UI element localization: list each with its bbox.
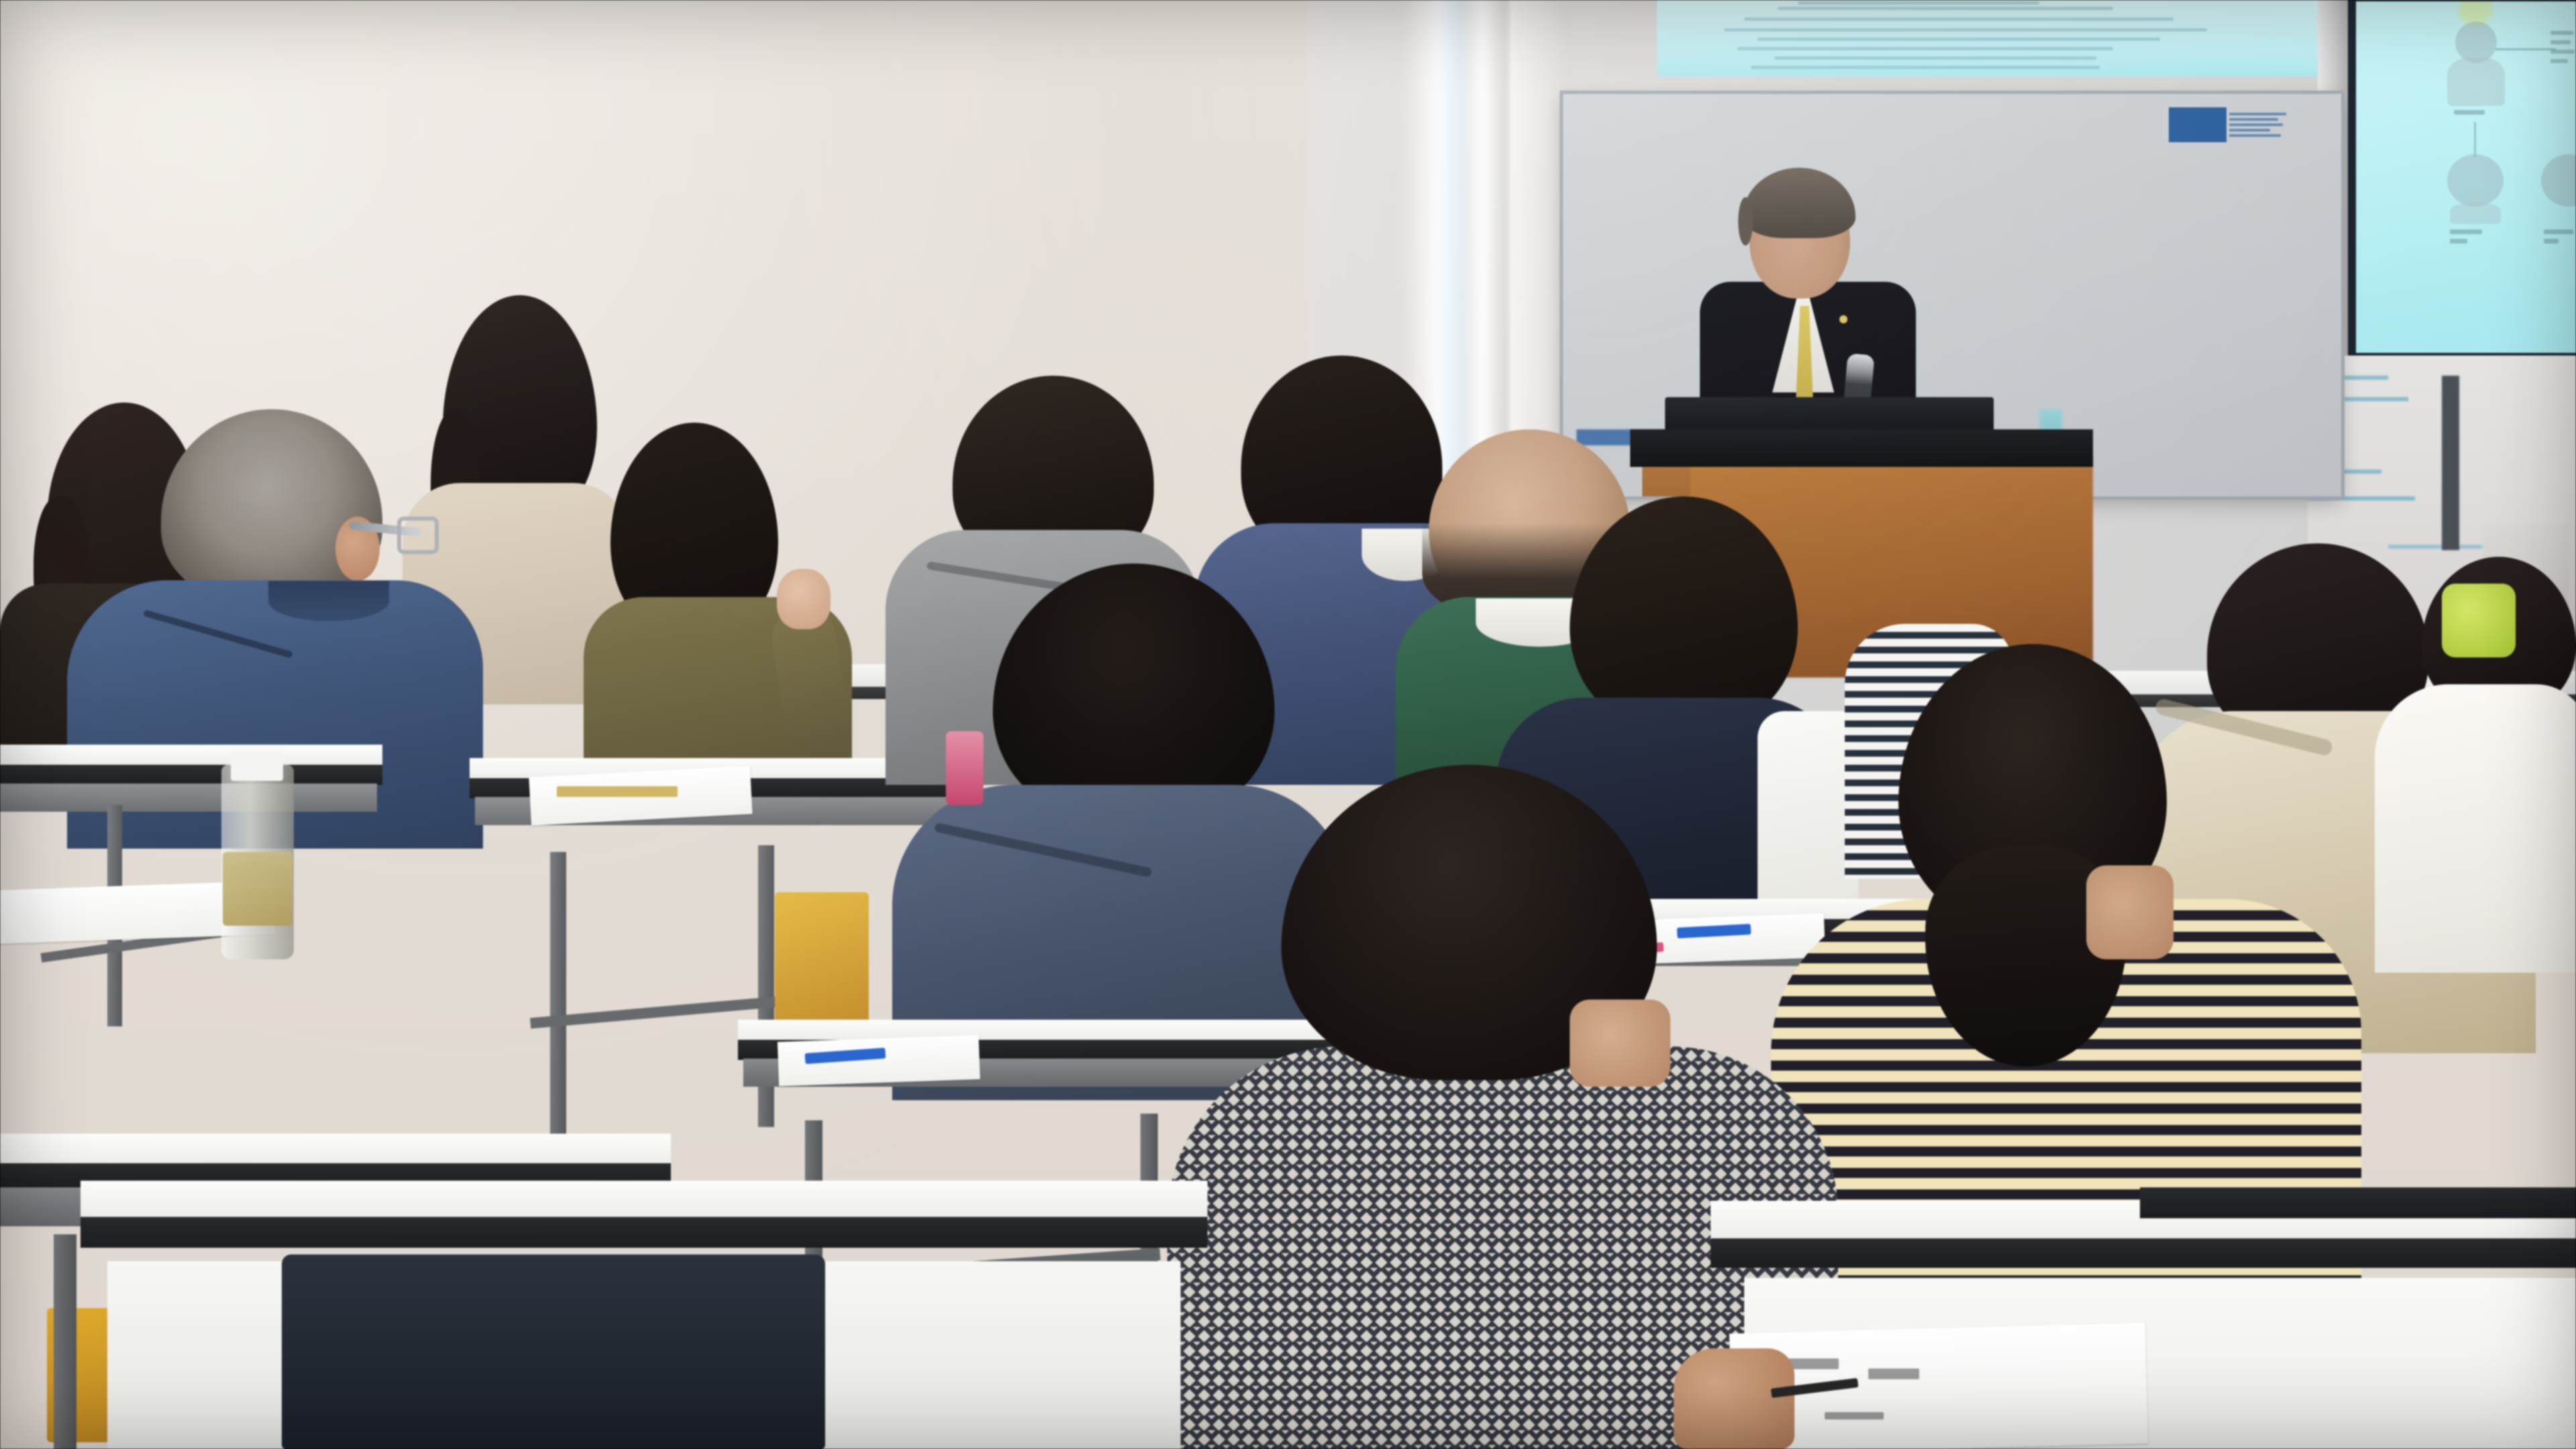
desk-left-row2: [0, 745, 382, 852]
drink-can-pink: [946, 731, 983, 805]
slide-caption-right-4: [2551, 59, 2568, 63]
secondary-slide-screen: [2348, 0, 2576, 358]
hand-holding-pen: [1674, 1348, 1794, 1449]
slide-caption-right-1: [2551, 31, 2573, 35]
desk-left-row2-edge: [0, 765, 382, 785]
p13-torso-white: [2375, 684, 2576, 973]
desk-left-row1-leg-a: [550, 852, 566, 1134]
desk-front-main-top: [80, 1181, 1207, 1221]
desk-front-main-edge: [80, 1217, 1207, 1248]
slide-connector-arrow: [2474, 122, 2476, 157]
p2-glasses-lens: [397, 517, 439, 554]
front-chair-back: [282, 1254, 825, 1449]
physical-lectern-top: [1630, 429, 2093, 467]
seminar-room-photo: Lecture hall seminar with projected spea…: [0, 0, 2576, 1449]
slide-callout-line: [2495, 48, 2556, 50]
desk-left-row2-top: [0, 745, 382, 767]
logo-text-lines: [2229, 107, 2286, 142]
speaker-lapel-pin: [1839, 315, 1847, 323]
logo-block: [2169, 107, 2226, 142]
p9-hair: [1570, 496, 1798, 724]
slide-corner-logo: [2169, 107, 2286, 142]
handout-foreground-mark-3: [1825, 1412, 1884, 1419]
yellow-tote-bag-under-desk: [775, 892, 869, 1026]
person-woman-olive-top: [584, 423, 865, 785]
right-wall-blue-line-4: [2308, 496, 2415, 500]
p8-neck: [1570, 1000, 1670, 1087]
slide-figure-bottom-right: [2536, 154, 2576, 248]
speaker-attire: dark suit jacket: [0, 0, 5, 1]
p11-neck: [2086, 865, 2173, 959]
desk-front-left-top: [0, 1134, 671, 1167]
slide-caption-right-3: [2551, 50, 2575, 54]
desk-front-right-edge: [1711, 1238, 2576, 1268]
slide-caption-right-2: [2551, 40, 2571, 44]
desk-front-left-leg: [54, 1234, 76, 1449]
water-bottle-label: [223, 852, 292, 926]
desk-left-row2-apron: [0, 784, 377, 812]
handout-foreground-mark-1: [1788, 1358, 1839, 1369]
green-bag-far-right: [2442, 584, 2516, 657]
slide-figure-top: [2443, 21, 2508, 122]
handout-foreground-mark-2: [1868, 1368, 1919, 1379]
p4-hand: [777, 569, 830, 629]
desk-right-dark-bar: [2140, 1187, 2576, 1218]
water-bottle-cap: [231, 751, 283, 781]
p2-collar: [268, 581, 389, 621]
slide-figure-bottom-left: [2440, 154, 2510, 248]
handout-left-row1-mark: [557, 786, 678, 797]
speaker-hair: [1743, 168, 1856, 238]
upper-cyan-slide-banner: [1657, 0, 2328, 76]
screen-support-post: [2442, 376, 2459, 550]
